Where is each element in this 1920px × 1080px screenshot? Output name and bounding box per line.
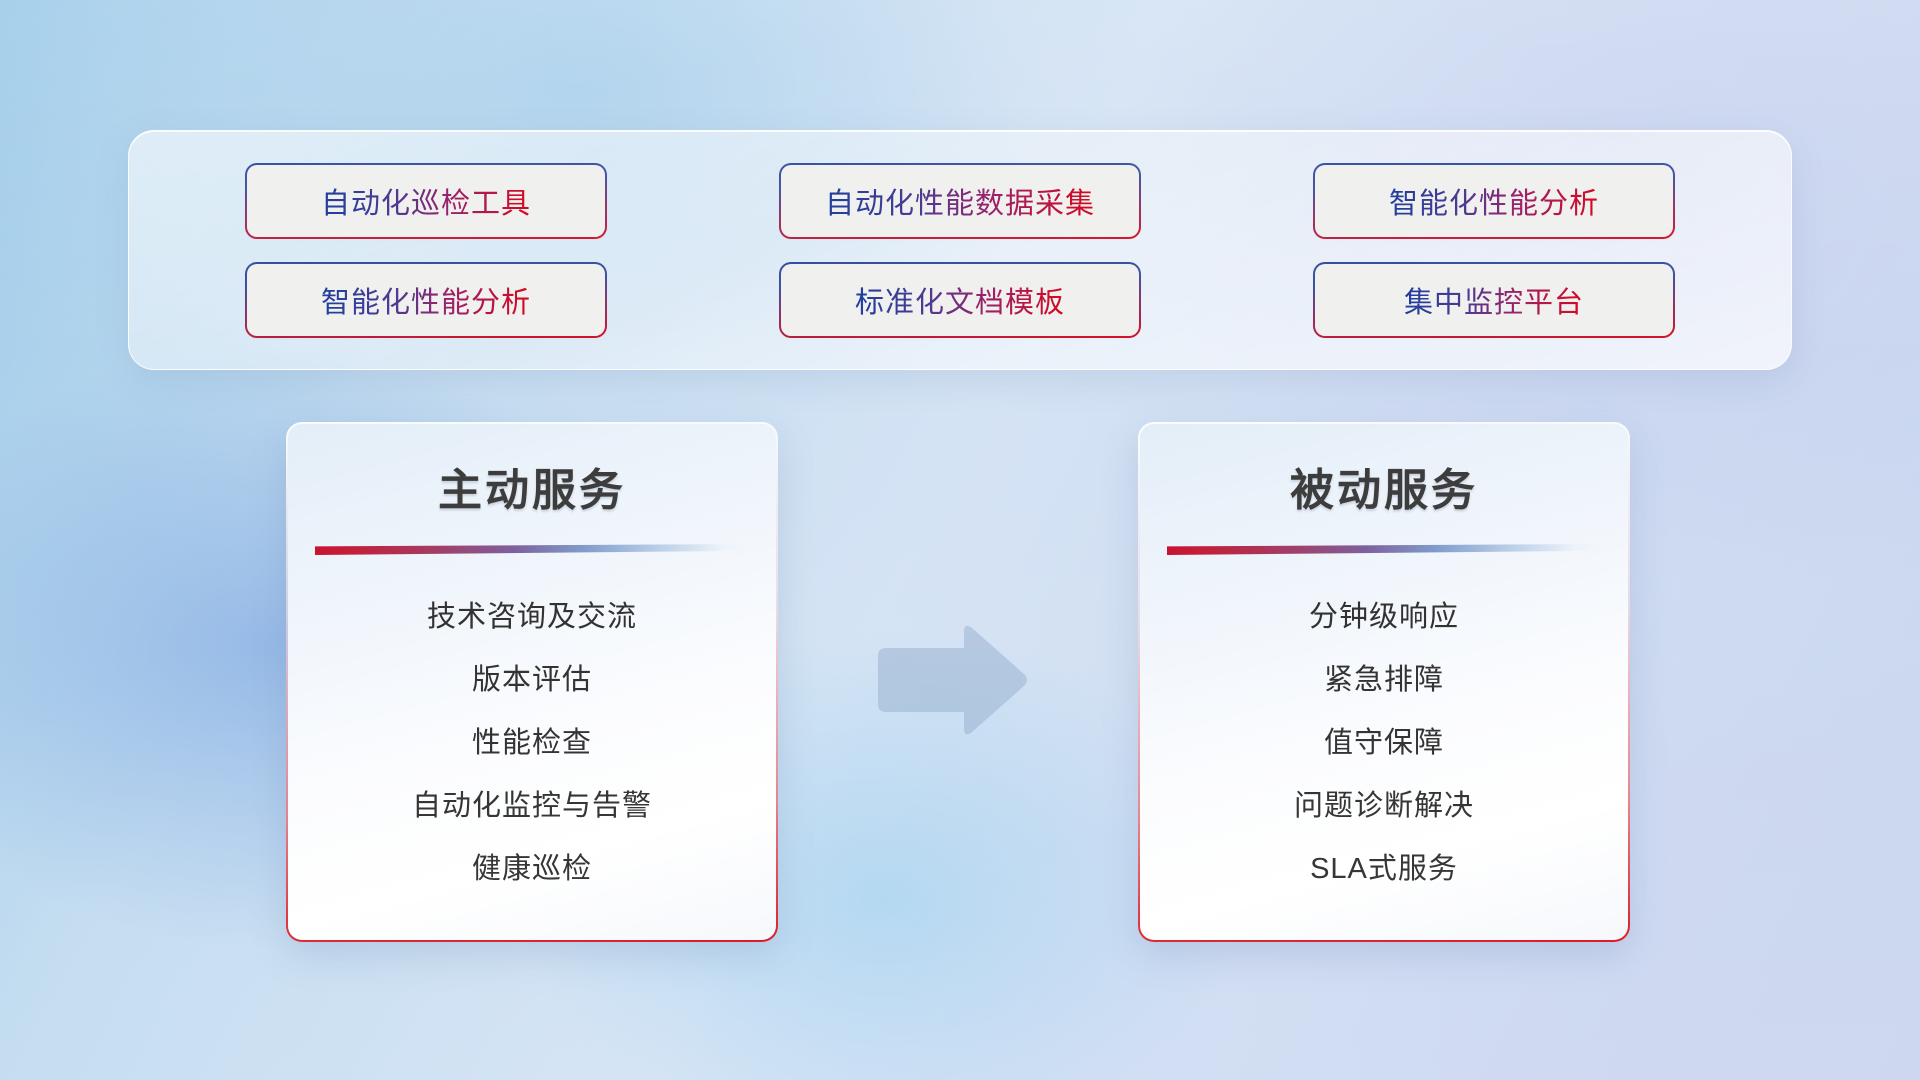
list-item: 问题诊断解决	[1294, 792, 1474, 821]
capability-tag-label: 集中监控平台	[1404, 279, 1584, 321]
proactive-service-list: 技术咨询及交流 版本评估 性能检查 自动化监控与告警 健康巡检	[288, 603, 776, 884]
reactive-service-card: 被动服务 分钟级响应 紧急排障 值守保障 问题诊断解决 SLA式服务	[1138, 422, 1630, 942]
proactive-service-card: 主动服务 技术咨询及交流 版本评估 性能检查 自动化监控与告警 健康巡检	[286, 422, 778, 942]
capability-tag[interactable]: 智能化性能分析	[247, 264, 605, 336]
arrow-right-icon	[872, 620, 1032, 740]
list-item: 自动化监控与告警	[412, 792, 652, 821]
capabilities-panel: 自动化巡检工具 自动化性能数据采集 智能化性能分析 智能化性能分析 标准化文档模…	[128, 130, 1792, 370]
list-item: SLA式服务	[1310, 855, 1458, 884]
capability-tag[interactable]: 智能化性能分析	[1315, 165, 1673, 237]
capability-tag-label: 自动化性能数据采集	[825, 180, 1095, 222]
proactive-service-title: 主动服务	[438, 454, 626, 518]
capability-tag-label: 自动化巡检工具	[321, 180, 531, 222]
reactive-title-divider	[1167, 544, 1601, 555]
list-item: 值守保障	[1324, 729, 1444, 758]
proactive-title-divider	[315, 544, 749, 555]
capability-tag-label: 智能化性能分析	[1389, 180, 1599, 222]
list-item: 紧急排障	[1324, 666, 1444, 695]
list-item: 版本评估	[472, 666, 592, 695]
capability-tag-label: 智能化性能分析	[321, 279, 531, 321]
reactive-service-list: 分钟级响应 紧急排障 值守保障 问题诊断解决 SLA式服务	[1140, 603, 1628, 884]
list-item: 健康巡检	[472, 855, 592, 884]
capability-tag[interactable]: 自动化巡检工具	[247, 165, 605, 237]
slide-canvas: 自动化巡检工具 自动化性能数据采集 智能化性能分析 智能化性能分析 标准化文档模…	[0, 0, 1920, 1080]
capability-tag-label: 标准化文档模板	[855, 279, 1065, 321]
list-item: 性能检查	[472, 729, 592, 758]
reactive-service-title: 被动服务	[1290, 454, 1478, 518]
list-item: 技术咨询及交流	[427, 603, 637, 632]
proactive-service-card-body: 主动服务 技术咨询及交流 版本评估 性能检查 自动化监控与告警 健康巡检	[288, 424, 776, 940]
list-item: 分钟级响应	[1309, 603, 1459, 632]
capability-tag[interactable]: 自动化性能数据采集	[781, 165, 1139, 237]
capability-tag[interactable]: 集中监控平台	[1315, 264, 1673, 336]
reactive-service-card-body: 被动服务 分钟级响应 紧急排障 值守保障 问题诊断解决 SLA式服务	[1140, 424, 1628, 940]
capability-tag[interactable]: 标准化文档模板	[781, 264, 1139, 336]
